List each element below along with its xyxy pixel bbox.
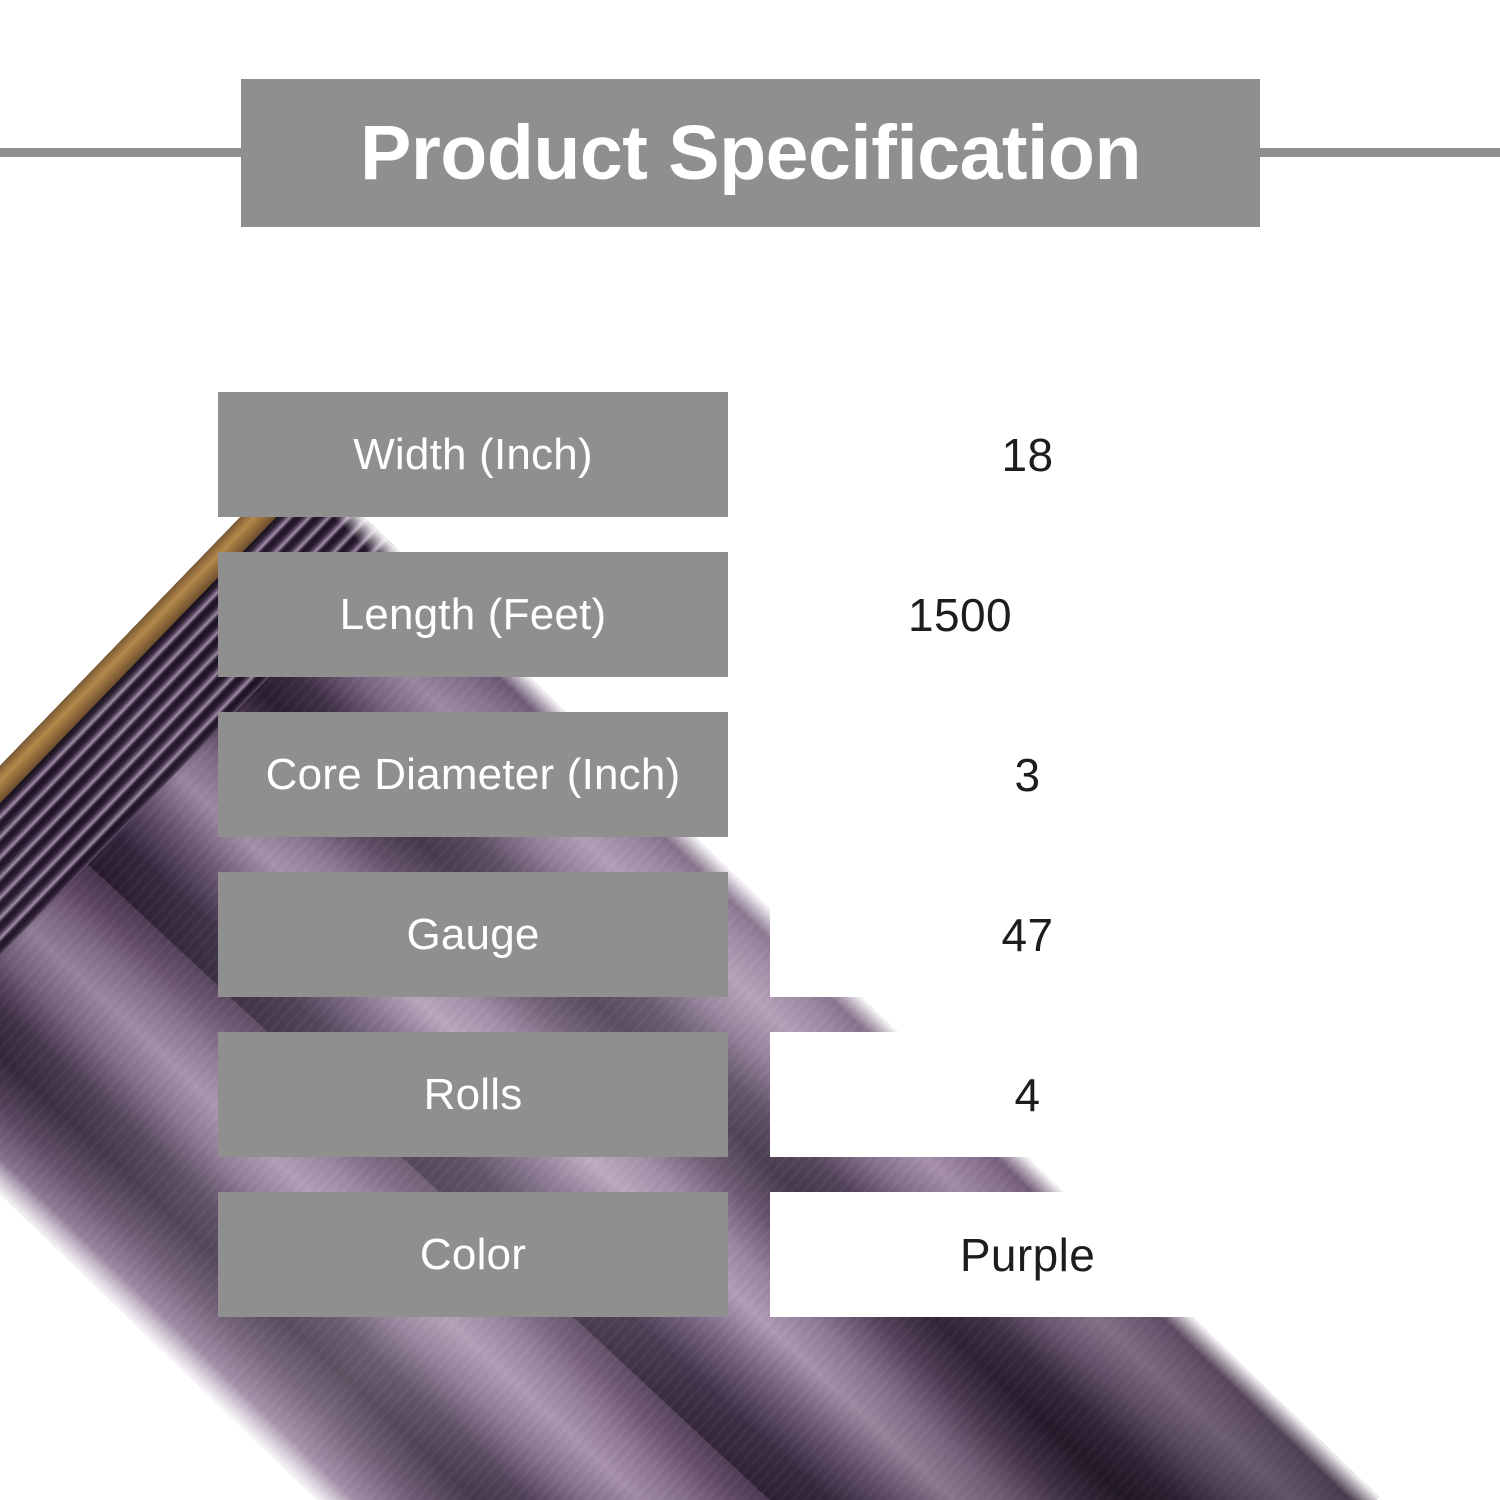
spec-label-cell: Width (Inch) — [218, 392, 728, 517]
spec-value-text: 4 — [1015, 1072, 1041, 1118]
spec-label-text: Core Diameter (Inch) — [266, 751, 681, 799]
table-row: ColorPurple — [0, 1192, 1500, 1317]
table-row: Width (Inch)18 — [0, 392, 1500, 517]
spec-label-cell: Color — [218, 1192, 728, 1317]
spec-value-cell: 47 — [770, 872, 1285, 997]
spec-value-cell: 4 — [770, 1032, 1285, 1157]
spec-label-cell: Gauge — [218, 872, 728, 997]
table-row: Core Diameter (Inch)3 — [0, 712, 1500, 837]
spec-value-text: 47 — [1002, 912, 1054, 958]
spec-label-cell: Length (Feet) — [218, 552, 728, 677]
spec-label-cell: Core Diameter (Inch) — [218, 712, 728, 837]
table-row: Rolls4 — [0, 1032, 1500, 1157]
specification-table: Width (Inch)18Length (Feet)1500Core Diam… — [0, 0, 1500, 1500]
spec-value-cell: 1500 — [770, 552, 1150, 677]
spec-label-cell: Rolls — [218, 1032, 728, 1157]
spec-value-text: Purple — [960, 1232, 1095, 1278]
spec-value-cell: 18 — [770, 392, 1285, 517]
table-row: Length (Feet)1500 — [0, 552, 1500, 677]
table-row: Gauge47 — [0, 872, 1500, 997]
spec-label-text: Gauge — [406, 911, 539, 959]
spec-label-text: Length (Feet) — [340, 591, 607, 639]
spec-label-text: Rolls — [424, 1071, 523, 1119]
spec-value-cell: Purple — [770, 1192, 1285, 1317]
spec-label-text: Width (Inch) — [353, 431, 593, 479]
spec-value-text: 1500 — [908, 592, 1012, 638]
spec-value-cell: 3 — [770, 712, 1285, 837]
spec-label-text: Color — [420, 1231, 526, 1279]
spec-value-text: 3 — [1015, 752, 1041, 798]
spec-value-text: 18 — [1002, 432, 1054, 478]
